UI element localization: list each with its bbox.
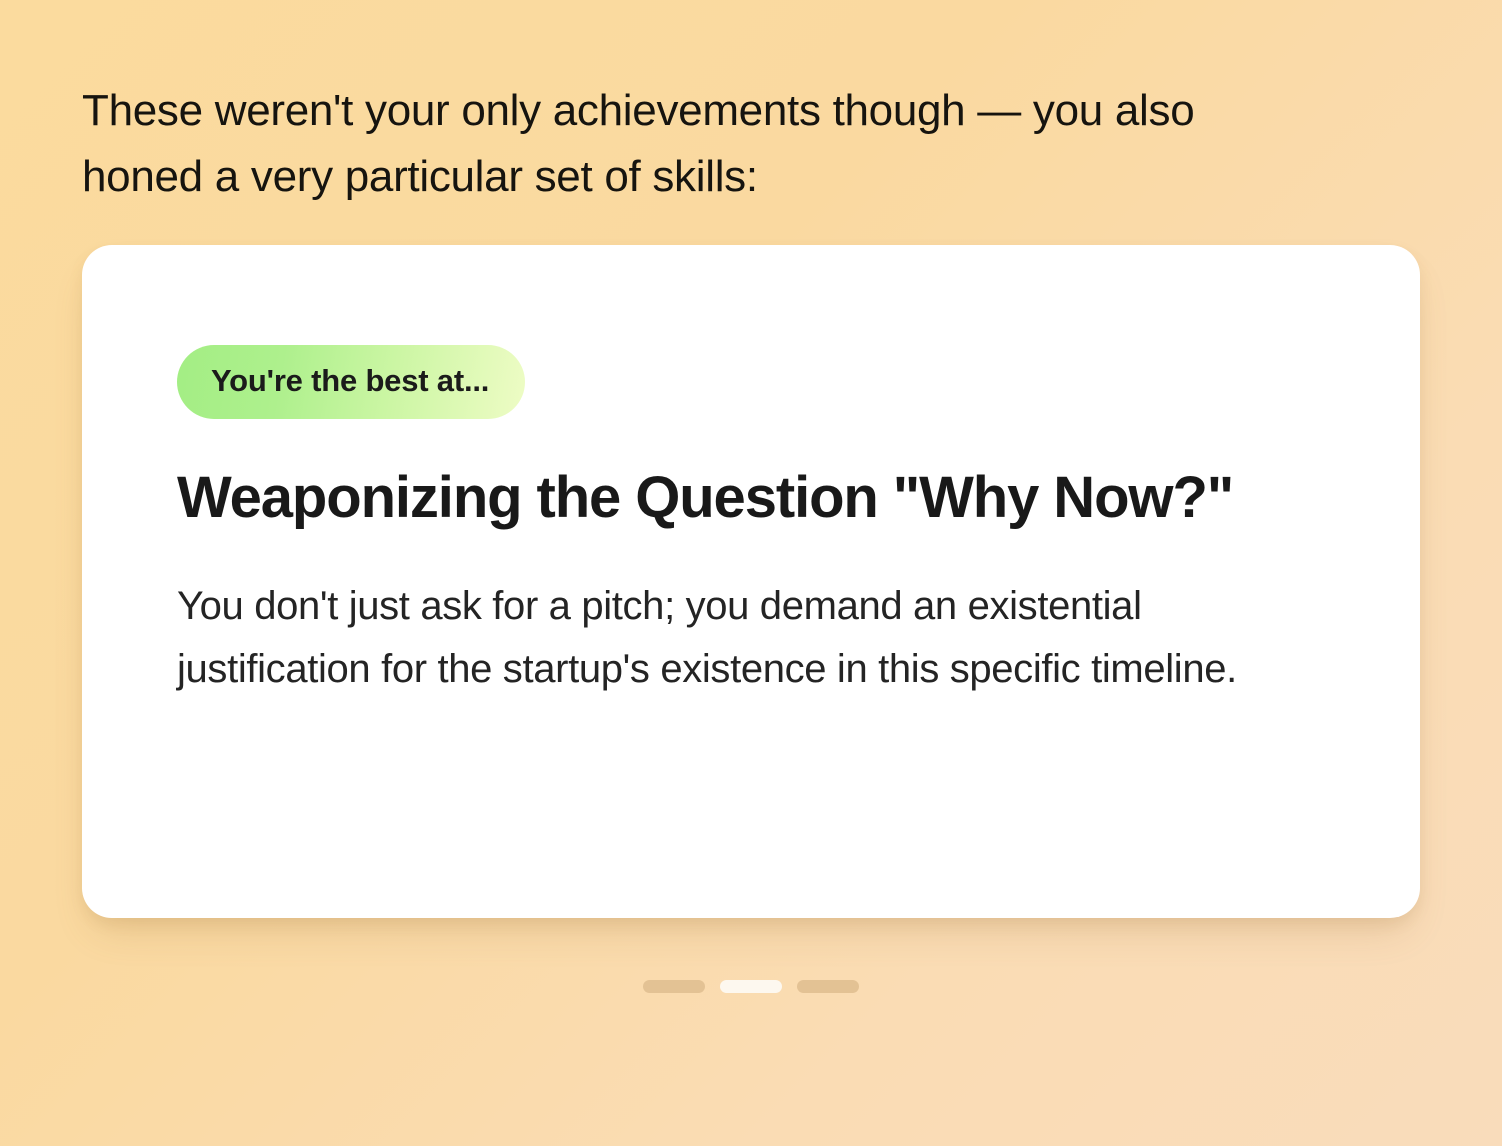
- pagination-dot-3[interactable]: [797, 980, 859, 993]
- skill-title: Weaponizing the Question "Why Now?": [177, 463, 1247, 533]
- skill-card-content: You're the best at... Weaponizing the Qu…: [177, 345, 1342, 701]
- slide-container: These weren't your only achievements tho…: [0, 0, 1502, 1146]
- intro-heading: These weren't your only achievements tho…: [82, 78, 1342, 210]
- intro-heading-line-2: honed a very particular set of skills:: [82, 144, 1342, 210]
- skill-description: You don't just ask for a pitch; you dema…: [177, 575, 1342, 701]
- pagination-dot-1[interactable]: [643, 980, 705, 993]
- status-badge: You're the best at...: [177, 345, 525, 419]
- pagination-dots: [0, 980, 1502, 993]
- intro-heading-line-1: These weren't your only achievements tho…: [82, 78, 1342, 144]
- pagination-dot-2[interactable]: [720, 980, 782, 993]
- skill-card: You're the best at... Weaponizing the Qu…: [82, 245, 1420, 918]
